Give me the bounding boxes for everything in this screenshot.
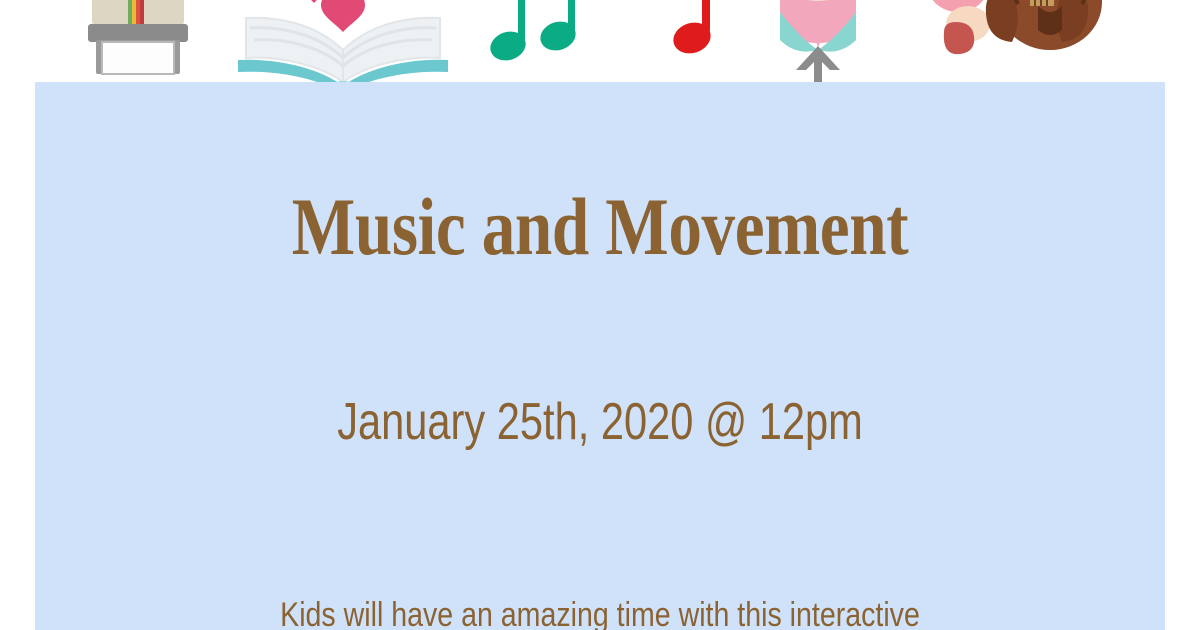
page-title: Music and Movement <box>137 186 1064 268</box>
flyer-panel: Music and Movement January 25th, 2020 @ … <box>35 82 1165 630</box>
event-flyer: Music and Movement January 25th, 2020 @ … <box>0 0 1200 630</box>
music-notes-icon <box>488 0 598 82</box>
music-note-icon <box>668 0 728 82</box>
event-description: Kids will have an amazing time with this… <box>125 594 1074 630</box>
open-book-icon <box>228 0 458 82</box>
camera-icon <box>78 0 198 82</box>
violin-player-icon <box>918 0 1108 82</box>
decorative-header-strip <box>0 0 1200 82</box>
event-date: January 25th, 2020 @ 12pm <box>148 396 1052 448</box>
dancing-child-icon <box>762 0 882 82</box>
